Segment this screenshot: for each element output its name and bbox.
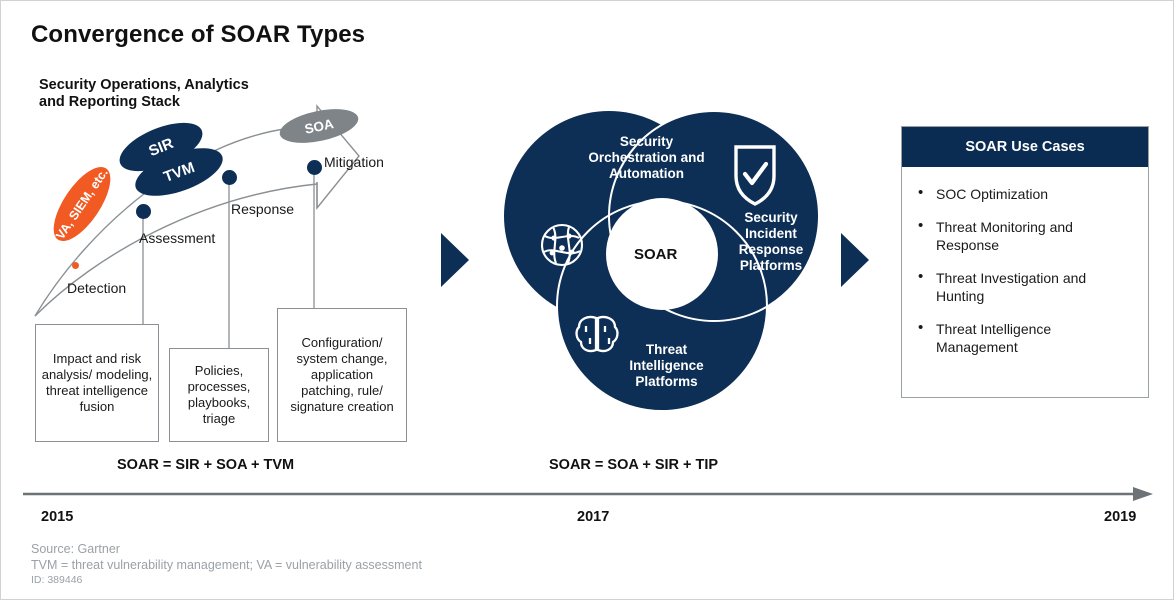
- soar-venn-diagram: SecurityOrchestration andAutomation Secu…: [499, 106, 829, 421]
- year-label-2019: 2019: [1104, 509, 1136, 525]
- chevron-arrow-1: [441, 233, 469, 287]
- mitigation-dot: [307, 160, 322, 175]
- list-item: Threat Intelligence Management: [916, 320, 1134, 356]
- circle-label-soa: SecurityOrchestration andAutomation: [559, 134, 734, 182]
- circle-label-sir: SecurityIncidentResponsePlatforms: [721, 210, 821, 274]
- callout-box-policies: Policies, processes, playbooks, triage: [169, 348, 269, 442]
- circle-label-tip: ThreatIntelligencePlatforms: [609, 342, 724, 390]
- soar-use-cases-panel: SOAR Use Cases SOC Optimization Threat M…: [901, 126, 1149, 398]
- formula-2017: SOAR = SOA + SIR + TIP: [549, 457, 718, 473]
- footer-notes: Source: Gartner TVM = threat vulnerabili…: [31, 541, 422, 587]
- assessment-dot: [136, 204, 151, 219]
- callout-box-impact: Impact and risk analysis/ modeling, thre…: [35, 324, 159, 442]
- use-cases-list: SOC Optimization Threat Monitoring and R…: [902, 167, 1148, 356]
- year-label-2017: 2017: [577, 509, 609, 525]
- use-cases-header: SOAR Use Cases: [902, 127, 1148, 167]
- callout-box-config: Configuration/ system change, applicatio…: [277, 308, 407, 442]
- year-label-2015: 2015: [41, 509, 73, 525]
- detection-dot: [72, 262, 79, 269]
- stage-label-detection: Detection: [67, 280, 126, 296]
- response-dot: [222, 170, 237, 185]
- slide-canvas: Convergence of SOAR Types Security Opera…: [0, 0, 1174, 600]
- footer-legend: TVM = threat vulnerability management; V…: [31, 557, 422, 573]
- stage-label-mitigation: Mitigation: [324, 154, 384, 170]
- stage-label-assessment: Assessment: [139, 230, 215, 246]
- list-item: SOC Optimization: [916, 185, 1134, 203]
- timeline-arrow: [23, 487, 1153, 503]
- page-title: Convergence of SOAR Types: [31, 21, 365, 49]
- footer-id: ID: 389446: [31, 573, 422, 587]
- maturity-curve-diagram: VA, SIEM, etc. SIR TVM SOA Detection Ass…: [29, 96, 449, 456]
- stage-label-response: Response: [231, 201, 294, 217]
- list-item: Threat Monitoring and Response: [916, 218, 1134, 254]
- chevron-arrow-2: [841, 233, 869, 287]
- list-item: Threat Investigation and Hunting: [916, 269, 1134, 305]
- formula-2015: SOAR = SIR + SOA + TVM: [117, 457, 294, 473]
- soar-core-label: SOAR: [634, 246, 677, 263]
- footer-source: Source: Gartner: [31, 541, 422, 557]
